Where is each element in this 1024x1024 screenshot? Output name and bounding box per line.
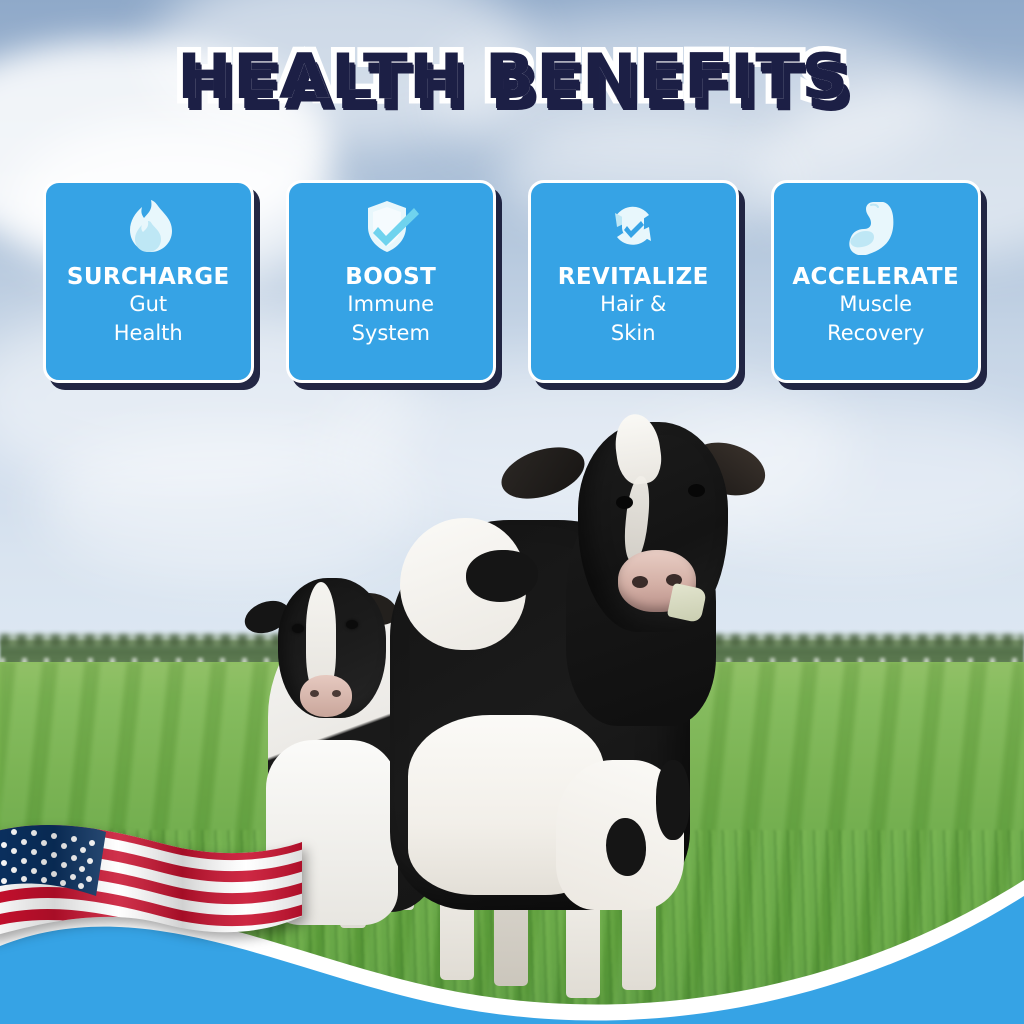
benefit-subline-2: Recovery — [827, 321, 924, 347]
benefit-headline: REVITALIZE — [558, 265, 709, 289]
benefit-card-boost[interactable]: BOOST Immune System — [286, 180, 497, 383]
refresh-shield-icon — [602, 197, 664, 257]
benefit-headline: SURCHARGE — [67, 265, 230, 289]
benefit-subline-1: Immune — [347, 292, 434, 318]
benefit-card-row: SURCHARGE Gut Health BOOST Immune System — [43, 180, 981, 383]
bicep-icon — [845, 197, 907, 257]
title-word-health: HEALTH — [166, 40, 475, 114]
benefit-subline-1: Muscle — [839, 292, 912, 318]
benefit-subline-2: Skin — [611, 321, 656, 347]
flame-icon — [117, 197, 179, 257]
benefit-card-revitalize[interactable]: REVITALIZE Hair & Skin — [528, 180, 739, 383]
title-word-benefits: BENEFITS — [474, 40, 860, 114]
benefit-headline: ACCELERATE — [792, 265, 959, 289]
benefit-subline-2: System — [352, 321, 430, 347]
benefit-card-accelerate[interactable]: ACCELERATE Muscle Recovery — [771, 180, 982, 383]
shield-check-icon — [360, 197, 422, 257]
benefit-subline-1: Hair & — [600, 292, 666, 318]
benefit-subline-1: Gut — [129, 292, 167, 318]
usa-flag-icon — [0, 812, 304, 972]
benefit-headline: BOOST — [345, 265, 436, 289]
benefit-card-surcharge[interactable]: SURCHARGE Gut Health — [43, 180, 254, 383]
poster-canvas: HEALTH BENEFITS SURCHARGE Gut Health — [0, 0, 1024, 1024]
page-title: HEALTH BENEFITS — [0, 40, 1024, 114]
benefit-subline-2: Health — [114, 321, 183, 347]
